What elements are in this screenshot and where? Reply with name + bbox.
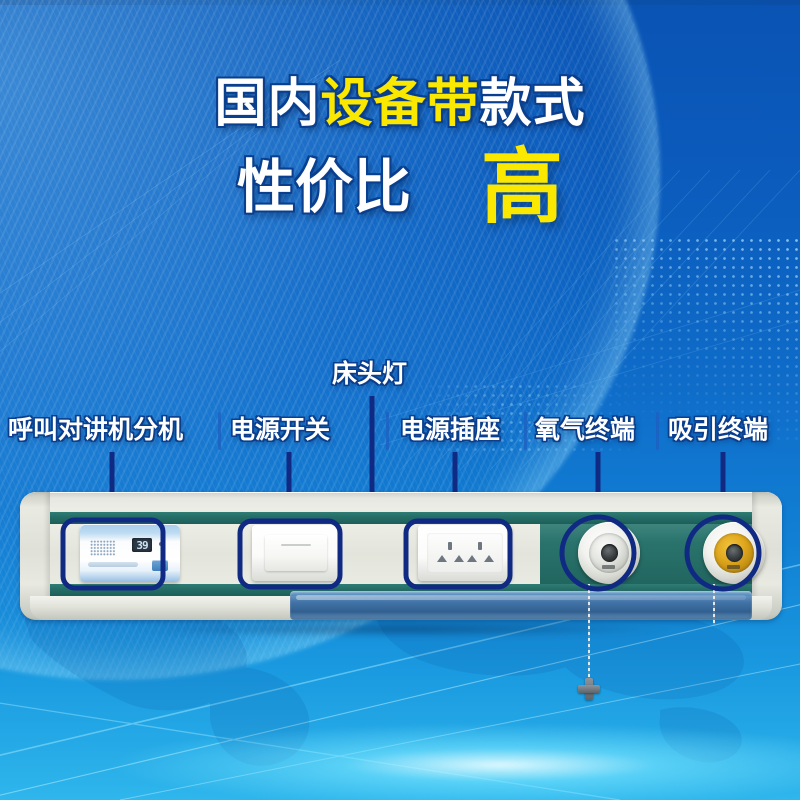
highlight-oxygen bbox=[562, 517, 634, 589]
highlight-annotations bbox=[0, 0, 800, 800]
highlight-socket bbox=[406, 521, 510, 587]
promo-banner: 国内设备带款式 性价比 高 呼叫对 bbox=[0, 0, 800, 800]
highlight-switch bbox=[240, 521, 340, 587]
highlight-intercom bbox=[63, 520, 163, 588]
highlight-suction bbox=[687, 517, 759, 589]
